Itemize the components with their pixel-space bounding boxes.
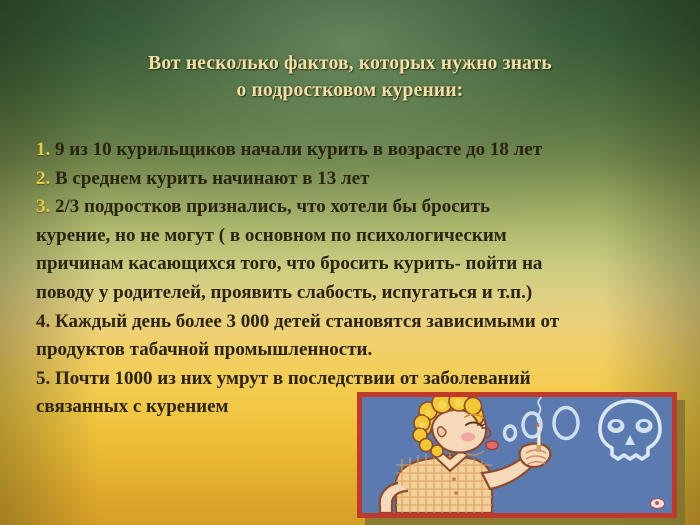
fact-number-4: 4. <box>36 311 50 332</box>
fact-text-4: Каждый день более 3 000 детей становятся… <box>55 311 559 332</box>
illustration <box>357 392 677 518</box>
fact-number-3: 3. <box>36 196 50 217</box>
slide-title-line-2: о подростковом курении: <box>0 77 700 104</box>
fact-number-2: 2. <box>36 168 50 189</box>
fact-item-3: 3. 2/3 подростков признались, что хотели… <box>36 193 678 307</box>
illustration-frame <box>357 392 677 518</box>
fact-text-3-cont-3: поводу у родителей, проявить слабость, и… <box>36 279 678 308</box>
fact-text-4-cont-1: продуктов табачной промышленности. <box>36 336 678 365</box>
fact-text-5: Почти 1000 из них умрут в последствии от… <box>55 368 531 389</box>
fact-number-1: 1. <box>36 139 50 160</box>
slide-title-line-1: Вот несколько фактов, которых нужно знат… <box>0 50 700 77</box>
fact-item-4: 4. Каждый день более 3 000 детей становя… <box>36 308 678 365</box>
fact-item-1: 1. 9 из 10 курильщиков начали курить в в… <box>36 136 678 165</box>
fact-text-2: В среднем курить начинают в 13 лет <box>55 168 369 189</box>
presentation-slide: Вот несколько фактов, которых нужно знат… <box>0 0 700 525</box>
stamp-icon <box>650 498 665 509</box>
fact-number-5: 5. <box>36 368 50 389</box>
fact-item-2: 2. В среднем курить начинают в 13 лет <box>36 165 678 194</box>
fact-text-3: 2/3 подростков признались, что хотели бы… <box>55 196 490 217</box>
smoking-cartoon-icon <box>362 397 672 513</box>
fact-text-3-cont-2: причинам касающихся того, что бросить ку… <box>36 250 678 279</box>
fact-text-3-cont-1: курение, но не могут ( в основном по пси… <box>36 222 678 251</box>
fact-text-1: 9 из 10 курильщиков начали курить в возр… <box>55 139 542 160</box>
slide-title: Вот несколько фактов, которых нужно знат… <box>0 50 700 104</box>
facts-list: 1. 9 из 10 курильщиков начали курить в в… <box>36 136 678 422</box>
